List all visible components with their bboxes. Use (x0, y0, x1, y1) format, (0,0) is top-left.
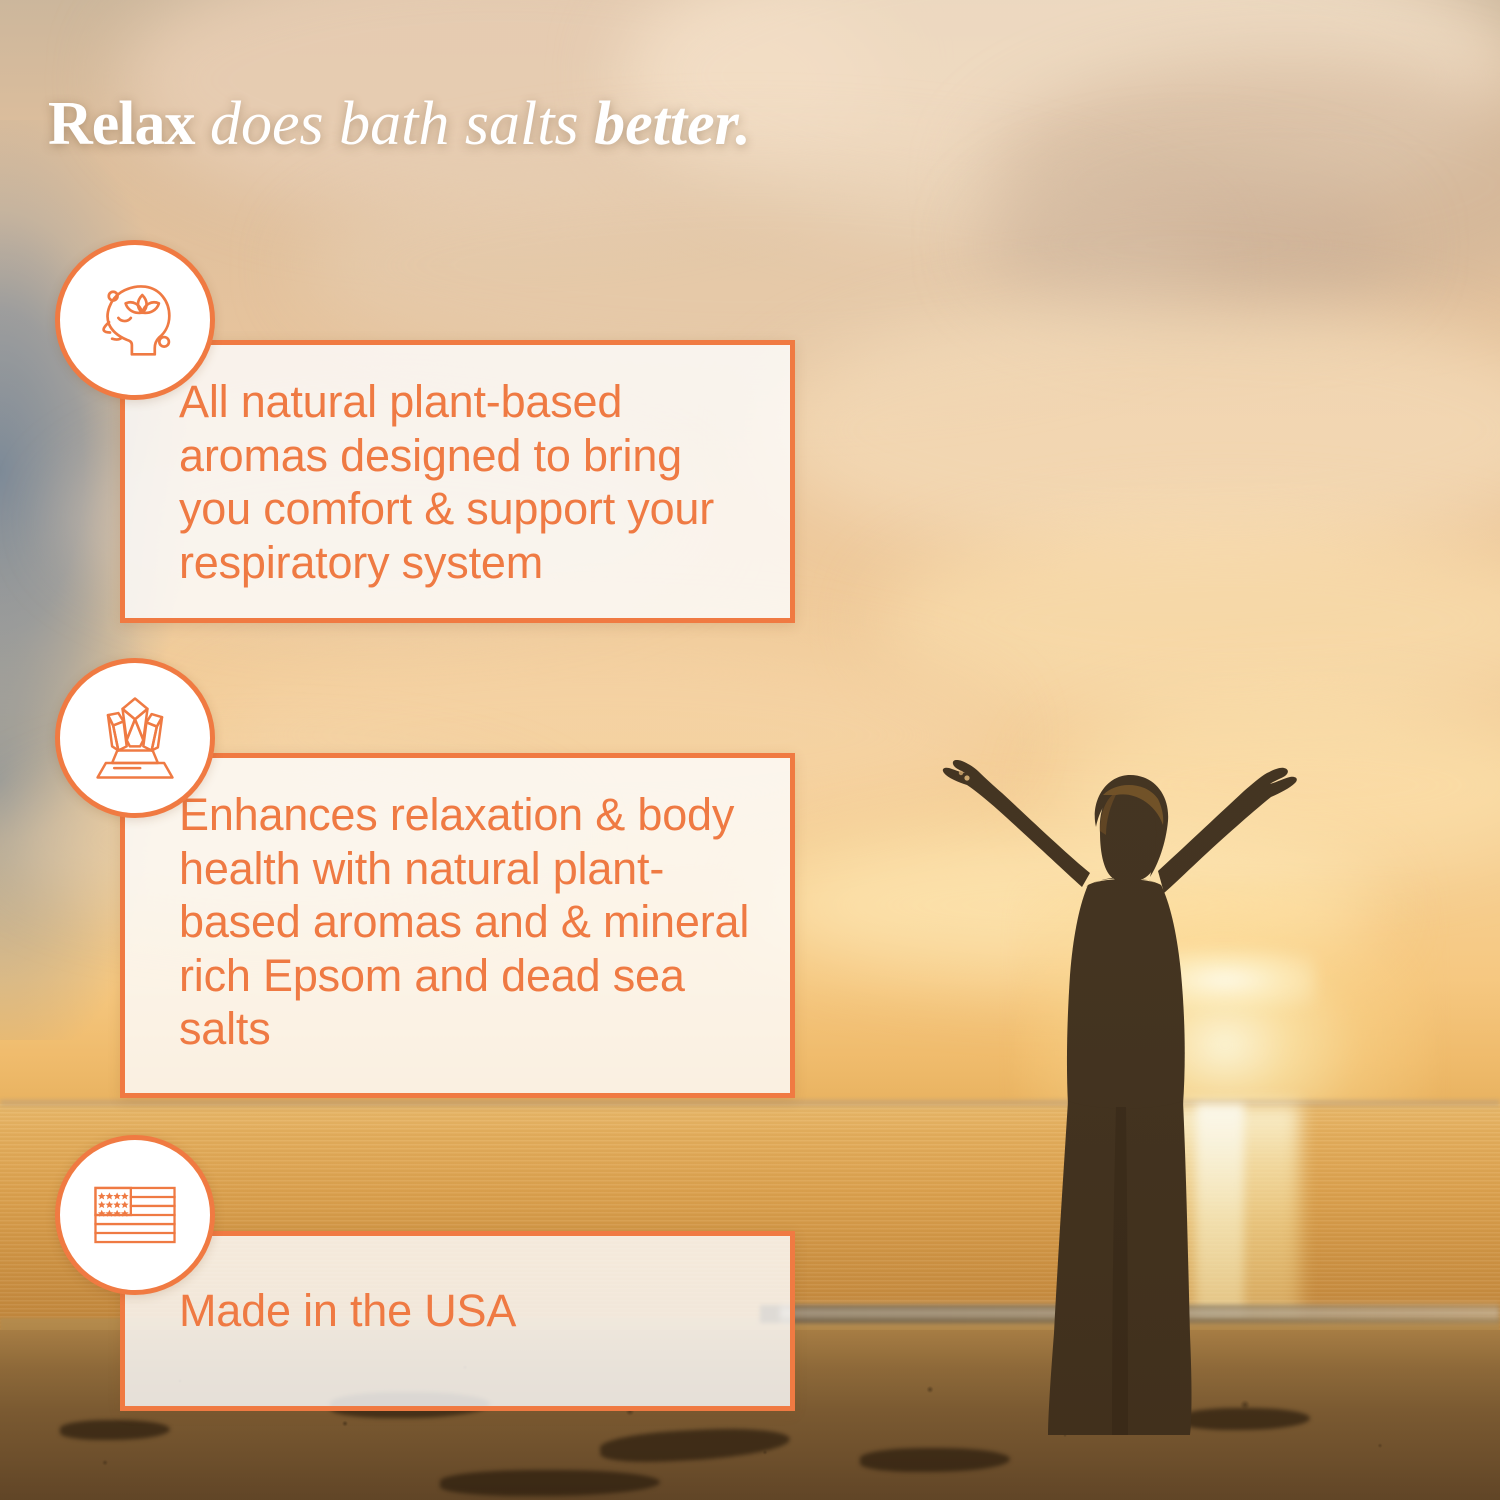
feature-callout-2: Enhances relaxation & body health with n… (120, 753, 795, 1098)
infographic-canvas: Relax does bath salts better. All natura… (0, 0, 1500, 1500)
page-title: Relax does bath salts better. (48, 92, 751, 157)
woman-silhouette (940, 735, 1310, 1435)
usa-flag-icon (55, 1135, 215, 1295)
headline-brand: Relax (48, 90, 195, 158)
feature-text-1: All natural plant-based aromas designed … (179, 375, 756, 589)
headline-emphasis: better. (594, 90, 751, 158)
mineral-salt-crystals-icon (55, 658, 215, 818)
feature-callout-1: All natural plant-based aromas designed … (120, 340, 795, 623)
headline-middle: does bath salts (195, 90, 595, 158)
feature-callout-3: Made in the USA (120, 1231, 795, 1411)
feature-text-3: Made in the USA (179, 1284, 756, 1338)
head-lotus-mindfulness-icon (55, 240, 215, 400)
feature-text-2: Enhances relaxation & body health with n… (179, 788, 756, 1056)
